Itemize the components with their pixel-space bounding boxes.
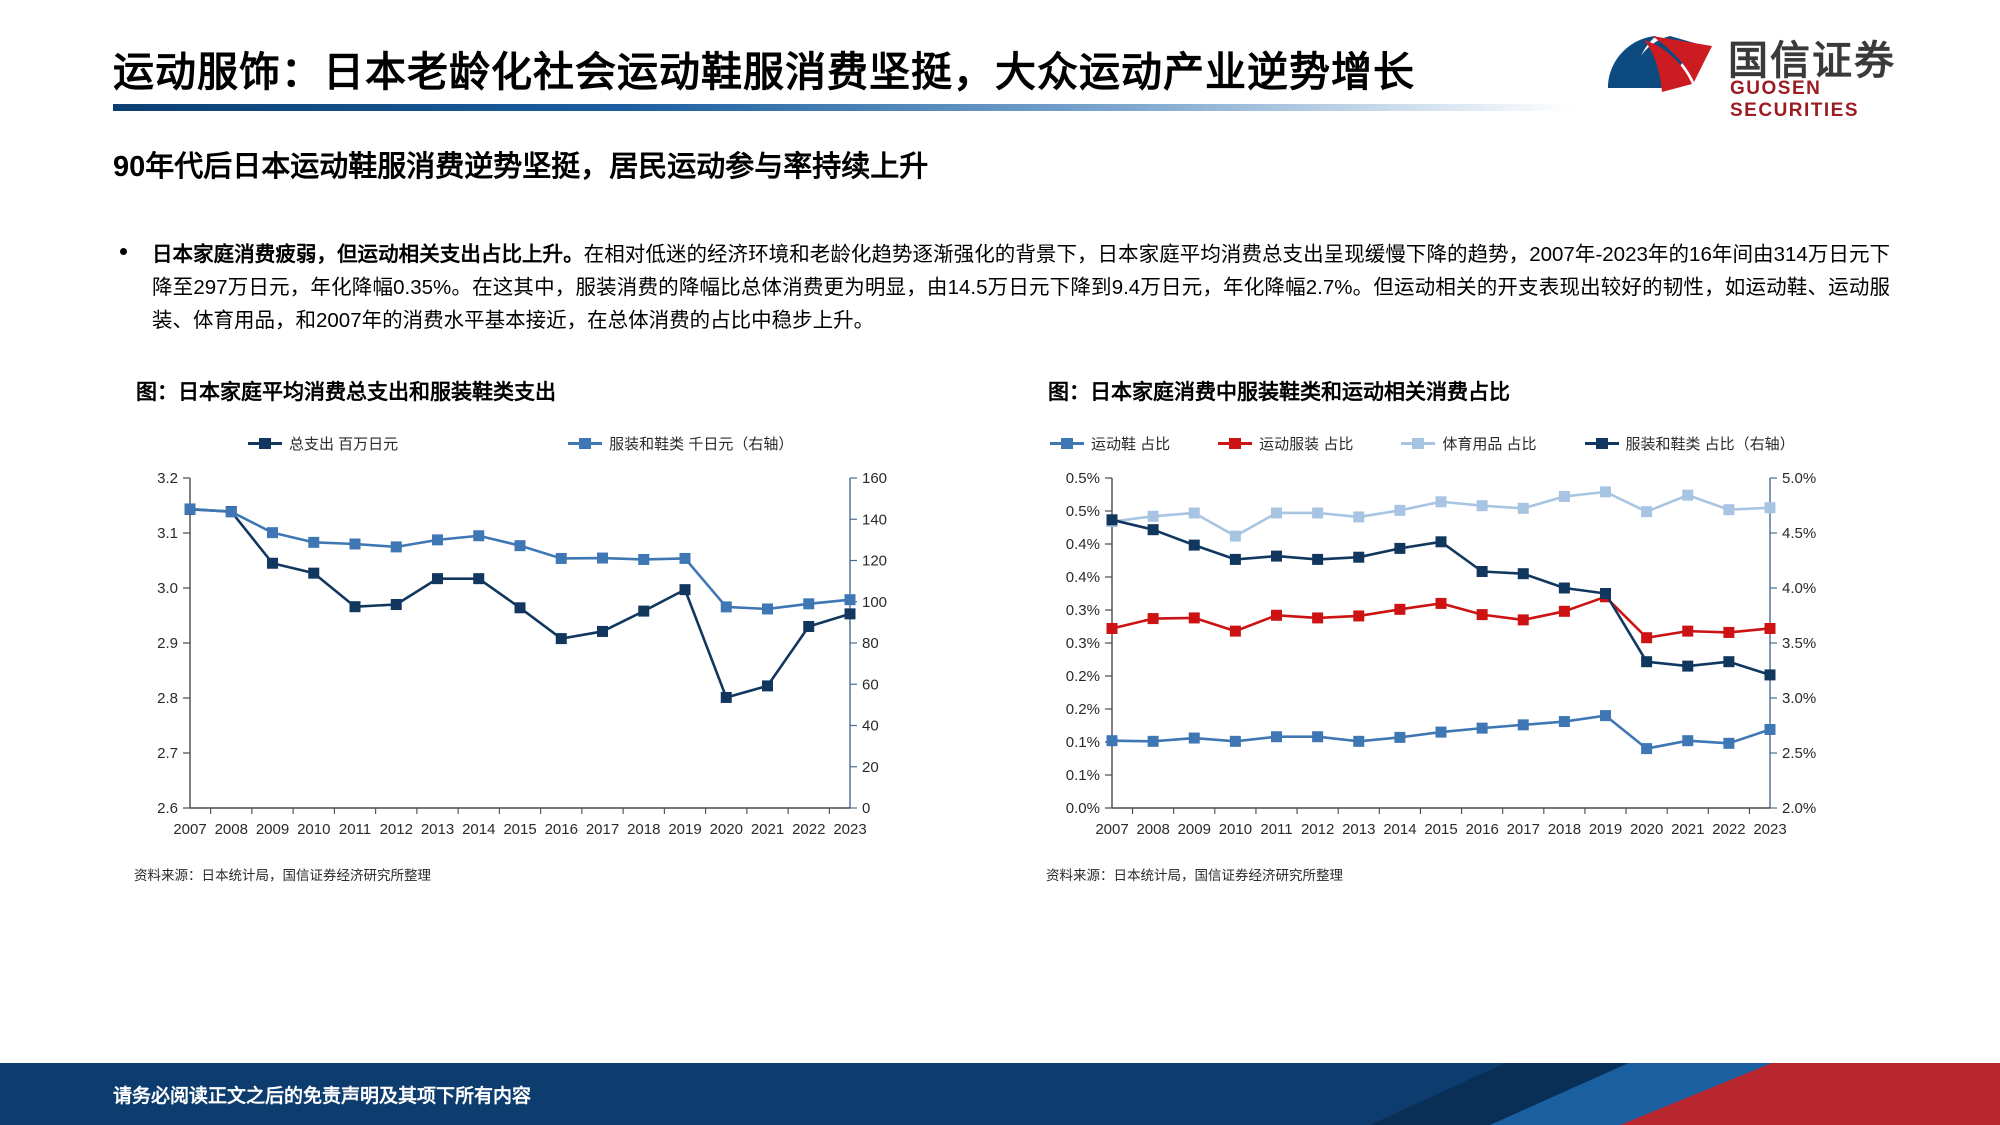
legend-swatch-icon bbox=[248, 438, 282, 448]
axis-tick-label: 0.0% bbox=[1066, 800, 1100, 817]
chart-left-source: 资料来源：日本统计局，国信证券经济研究所整理 bbox=[134, 864, 958, 884]
series-marker bbox=[1600, 588, 1611, 599]
axis-tick-label: 2016 bbox=[545, 821, 578, 838]
axis-tick-label: 2017 bbox=[1507, 821, 1540, 838]
series-marker bbox=[803, 621, 814, 632]
series-marker bbox=[1312, 731, 1323, 742]
axis-tick-label: 0.2% bbox=[1066, 668, 1100, 685]
series-marker bbox=[350, 601, 361, 612]
series-marker bbox=[680, 584, 691, 595]
axis-tick-label: 4.5% bbox=[1782, 525, 1816, 542]
series-marker bbox=[1148, 613, 1159, 624]
legend-swatch-icon bbox=[1050, 438, 1084, 448]
series-marker bbox=[1107, 514, 1118, 525]
series-marker bbox=[267, 558, 278, 569]
axis-tick-label: 20 bbox=[862, 759, 879, 776]
axis-tick-label: 2014 bbox=[1383, 821, 1416, 838]
axis-tick-label: 0.4% bbox=[1066, 569, 1100, 586]
series-marker bbox=[391, 541, 402, 552]
series-marker bbox=[1723, 504, 1734, 515]
series-marker bbox=[803, 598, 814, 609]
legend-label: 服装和鞋类 占比（右轴） bbox=[1626, 433, 1795, 454]
series-marker bbox=[226, 506, 237, 517]
series-marker bbox=[1107, 735, 1118, 746]
series-marker bbox=[1641, 743, 1652, 754]
series-marker bbox=[638, 554, 649, 565]
series-marker bbox=[845, 594, 856, 605]
series-marker bbox=[1723, 738, 1734, 749]
series-marker bbox=[1394, 505, 1405, 516]
bullet-dot-icon bbox=[120, 248, 127, 255]
series-marker bbox=[1765, 669, 1776, 680]
bullet-lead: 日本家庭消费疲弱，但运动相关支出占比上升。 bbox=[152, 243, 584, 266]
series-marker bbox=[1477, 500, 1488, 511]
axis-tick-label: 40 bbox=[862, 718, 879, 735]
series-marker bbox=[556, 553, 567, 564]
series-marker bbox=[432, 534, 443, 545]
series-marker bbox=[1312, 612, 1323, 623]
chart-right-plot: 0.5%0.5%0.4%0.4%0.3%0.3%0.2%0.2%0.1%0.1%… bbox=[1040, 464, 1870, 854]
logo-mark-icon bbox=[1600, 30, 1718, 98]
axis-tick-label: 3.0% bbox=[1782, 690, 1816, 707]
series-marker bbox=[1230, 531, 1241, 542]
series-marker bbox=[1765, 724, 1776, 735]
series-marker bbox=[1765, 502, 1776, 513]
series-marker bbox=[1559, 716, 1570, 727]
axis-tick-label: 0.2% bbox=[1066, 701, 1100, 718]
chart-right: 图：日本家庭消费中服装鞋类和运动相关消费占比 运动鞋 占比运动服装 占比体育用品… bbox=[1040, 376, 1870, 884]
series-marker bbox=[845, 608, 856, 619]
axis-tick-label: 2011 bbox=[1260, 821, 1292, 838]
series-marker bbox=[721, 601, 732, 612]
legend-label: 运动服装 占比 bbox=[1259, 433, 1353, 454]
legend-item-2[interactable]: 体育用品 占比 bbox=[1401, 433, 1536, 454]
series-marker bbox=[1436, 496, 1447, 507]
axis-tick-label: 0.5% bbox=[1066, 503, 1100, 520]
axis-tick-label: 0.4% bbox=[1066, 536, 1100, 553]
axis-tick-label: 2016 bbox=[1465, 821, 1498, 838]
axis-tick-label: 2021 bbox=[1671, 821, 1704, 838]
axis-tick-label: 2020 bbox=[1630, 821, 1663, 838]
legend-label: 总支出 百万日元 bbox=[289, 433, 398, 454]
legend-item-1[interactable]: 运动服装 占比 bbox=[1218, 433, 1353, 454]
axis-tick-label: 2.6 bbox=[157, 800, 178, 817]
series-marker bbox=[597, 553, 608, 564]
series-marker bbox=[308, 568, 319, 579]
axis-tick-label: 2019 bbox=[668, 821, 701, 838]
axis-tick-label: 2019 bbox=[1589, 821, 1622, 838]
axis-tick-label: 5.0% bbox=[1782, 470, 1816, 487]
chart-right-source: 资料来源：日本统计局，国信证券经济研究所整理 bbox=[1046, 864, 1870, 884]
series-marker bbox=[1765, 623, 1776, 634]
legend-swatch-icon bbox=[1585, 438, 1619, 448]
series-marker bbox=[1353, 552, 1364, 563]
chart-right-legend: 运动鞋 占比运动服装 占比体育用品 占比服装和鞋类 占比（右轴） bbox=[1040, 430, 1870, 456]
axis-tick-label: 2.5% bbox=[1782, 745, 1816, 762]
axis-tick-label: 3.1 bbox=[157, 525, 178, 542]
axis-tick-label: 2007 bbox=[1095, 821, 1128, 838]
axis-tick-label: 2.8 bbox=[157, 690, 178, 707]
series-marker bbox=[1189, 507, 1200, 518]
legend-swatch-icon bbox=[1218, 438, 1252, 448]
axis-tick-label: 2011 bbox=[339, 821, 371, 838]
series-marker bbox=[350, 539, 361, 550]
axis-tick-label: 2008 bbox=[1136, 821, 1169, 838]
axis-tick-label: 2015 bbox=[503, 821, 536, 838]
series-marker bbox=[1477, 566, 1488, 577]
axis-tick-label: 2018 bbox=[1548, 821, 1581, 838]
axis-tick-label: 4.0% bbox=[1782, 580, 1816, 597]
series-marker bbox=[473, 530, 484, 541]
bullet-text: 日本家庭消费疲弱，但运动相关支出占比上升。在相对低迷的经济环境和老龄化趋势逐渐强… bbox=[152, 238, 1890, 337]
series-marker bbox=[1641, 656, 1652, 667]
chart-left: 图：日本家庭平均消费总支出和服装鞋类支出 总支出 百万日元服装和鞋类 千日元（右… bbox=[128, 376, 958, 884]
series-marker bbox=[1271, 610, 1282, 621]
chart-right-title: 图：日本家庭消费中服装鞋类和运动相关消费占比 bbox=[1048, 376, 1870, 406]
series-marker bbox=[762, 680, 773, 691]
series-marker bbox=[1723, 627, 1734, 638]
company-logo: 国信证券 GUOSEN SECURITIES bbox=[1600, 28, 1940, 106]
series-marker bbox=[1312, 554, 1323, 565]
series-marker bbox=[1682, 626, 1693, 637]
axis-tick-label: 2013 bbox=[1342, 821, 1375, 838]
series-marker bbox=[1600, 710, 1611, 721]
series-marker bbox=[638, 606, 649, 617]
series-marker bbox=[1148, 736, 1159, 747]
axis-tick-label: 2017 bbox=[586, 821, 619, 838]
series-marker bbox=[1518, 568, 1529, 579]
series-marker bbox=[308, 537, 319, 548]
axis-tick-label: 0.1% bbox=[1066, 734, 1100, 751]
series-marker bbox=[1271, 551, 1282, 562]
series-marker bbox=[432, 573, 443, 584]
series-marker bbox=[1682, 661, 1693, 672]
axis-tick-label: 2010 bbox=[1219, 821, 1252, 838]
axis-tick-label: 3.0 bbox=[157, 580, 178, 597]
axis-tick-label: 2021 bbox=[751, 821, 784, 838]
series-marker bbox=[1394, 604, 1405, 615]
axis-tick-label: 2023 bbox=[833, 821, 866, 838]
series-marker bbox=[267, 527, 278, 538]
axis-tick-label: 2007 bbox=[173, 821, 206, 838]
series-marker bbox=[762, 603, 773, 614]
series-marker bbox=[1723, 656, 1734, 667]
axis-tick-label: 100 bbox=[862, 594, 887, 611]
series-marker bbox=[1641, 632, 1652, 643]
series-marker bbox=[1518, 503, 1529, 514]
axis-tick-label: 2.9 bbox=[157, 635, 178, 652]
axis-tick-label: 80 bbox=[862, 635, 879, 652]
axis-tick-label: 3.2 bbox=[157, 470, 178, 487]
legend-label: 服装和鞋类 千日元（右轴） bbox=[609, 433, 793, 454]
series-marker bbox=[1271, 507, 1282, 518]
legend-item-0[interactable]: 总支出 百万日元 bbox=[248, 433, 398, 454]
series-marker bbox=[1600, 486, 1611, 497]
series-marker bbox=[1641, 506, 1652, 517]
legend-item-1[interactable]: 服装和鞋类 千日元（右轴） bbox=[568, 433, 793, 454]
bullet-paragraph: 日本家庭消费疲弱，但运动相关支出占比上升。在相对低迷的经济环境和老龄化趋势逐渐强… bbox=[120, 238, 1890, 337]
chart-left-plot: 3.23.13.02.92.82.72.61601401201008060402… bbox=[128, 464, 958, 854]
axis-tick-label: 2013 bbox=[421, 821, 454, 838]
series-marker bbox=[473, 573, 484, 584]
axis-tick-label: 2015 bbox=[1424, 821, 1457, 838]
chart-left-legend: 总支出 百万日元服装和鞋类 千日元（右轴） bbox=[128, 430, 958, 456]
series-marker bbox=[1230, 554, 1241, 565]
axis-tick-label: 2022 bbox=[792, 821, 825, 838]
legend-label: 体育用品 占比 bbox=[1442, 433, 1536, 454]
series-marker bbox=[1189, 540, 1200, 551]
series-marker bbox=[1518, 719, 1529, 730]
series-line-1 bbox=[190, 509, 850, 609]
series-marker bbox=[1436, 727, 1447, 738]
series-marker bbox=[1230, 736, 1241, 747]
series-marker bbox=[1353, 511, 1364, 522]
series-marker bbox=[1436, 598, 1447, 609]
series-marker bbox=[1394, 732, 1405, 743]
series-marker bbox=[1394, 543, 1405, 554]
series-marker bbox=[1148, 511, 1159, 522]
series-marker bbox=[185, 503, 196, 514]
footer-disclaimer: 请务必阅读正文之后的免责声明及其项下所有内容 bbox=[113, 1081, 531, 1108]
series-marker bbox=[1682, 490, 1693, 501]
series-marker bbox=[1436, 536, 1447, 547]
axis-tick-label: 2020 bbox=[710, 821, 743, 838]
page-header: 运动服饰：日本老龄化社会运动鞋服消费坚挺，大众运动产业逆势增长 国信证券 GUO… bbox=[0, 0, 2000, 130]
axis-tick-label: 2.7 bbox=[157, 745, 178, 762]
series-marker bbox=[391, 599, 402, 610]
series-marker bbox=[1477, 609, 1488, 620]
series-marker bbox=[1230, 626, 1241, 637]
axis-tick-label: 2012 bbox=[1301, 821, 1334, 838]
axis-tick-label: 160 bbox=[862, 470, 887, 487]
logo-text-en: GUOSEN SECURITIES bbox=[1730, 78, 1940, 122]
series-marker bbox=[1518, 614, 1529, 625]
axis-tick-label: 0.3% bbox=[1066, 635, 1100, 652]
axis-tick-label: 2023 bbox=[1753, 821, 1786, 838]
axis-tick-label: 2.0% bbox=[1782, 800, 1816, 817]
series-marker bbox=[1148, 524, 1159, 535]
axis-tick-label: 2022 bbox=[1712, 821, 1745, 838]
series-marker bbox=[1682, 735, 1693, 746]
header-divider bbox=[113, 104, 1573, 111]
legend-swatch-icon bbox=[1401, 438, 1435, 448]
axis-tick-label: 2018 bbox=[627, 821, 660, 838]
axis-tick-label: 60 bbox=[862, 676, 879, 693]
legend-label: 运动鞋 占比 bbox=[1091, 433, 1170, 454]
series-marker bbox=[515, 540, 526, 551]
series-marker bbox=[1559, 583, 1570, 594]
series-marker bbox=[1312, 507, 1323, 518]
series-marker bbox=[721, 692, 732, 703]
series-marker bbox=[515, 602, 526, 613]
axis-tick-label: 0.3% bbox=[1066, 602, 1100, 619]
series-marker bbox=[1189, 733, 1200, 744]
series-marker bbox=[1353, 610, 1364, 621]
axis-tick-label: 120 bbox=[862, 553, 887, 570]
series-marker bbox=[1353, 736, 1364, 747]
section-subtitle: 90年代后日本运动鞋服消费逆势坚挺，居民运动参与率持续上升 bbox=[113, 143, 928, 185]
axis-tick-label: 2010 bbox=[297, 821, 330, 838]
axis-tick-label: 140 bbox=[862, 511, 887, 528]
page-footer: 请务必阅读正文之后的免责声明及其项下所有内容 bbox=[0, 1063, 2000, 1125]
axis-tick-label: 2009 bbox=[256, 821, 289, 838]
series-marker bbox=[556, 633, 567, 644]
axis-tick-label: 0.5% bbox=[1066, 470, 1100, 487]
legend-item-0[interactable]: 运动鞋 占比 bbox=[1050, 433, 1170, 454]
series-marker bbox=[1559, 606, 1570, 617]
legend-swatch-icon bbox=[568, 438, 602, 448]
axis-tick-label: 2014 bbox=[462, 821, 495, 838]
axis-tick-label: 3.5% bbox=[1782, 635, 1816, 652]
axis-tick-label: 2009 bbox=[1178, 821, 1211, 838]
series-marker bbox=[1189, 612, 1200, 623]
axis-tick-label: 2008 bbox=[215, 821, 248, 838]
page-title: 运动服饰：日本老龄化社会运动鞋服消费坚挺，大众运动产业逆势增长 bbox=[113, 38, 1415, 98]
legend-item-3[interactable]: 服装和鞋类 占比（右轴） bbox=[1585, 433, 1795, 454]
axis-tick-label: 2012 bbox=[380, 821, 413, 838]
series-marker bbox=[1271, 731, 1282, 742]
series-marker bbox=[1559, 491, 1570, 502]
series-marker bbox=[1107, 623, 1118, 634]
axis-tick-label: 0.1% bbox=[1066, 767, 1100, 784]
series-marker bbox=[680, 553, 691, 564]
axis-tick-label: 0 bbox=[862, 800, 870, 817]
series-marker bbox=[1477, 723, 1488, 734]
chart-left-title: 图：日本家庭平均消费总支出和服装鞋类支出 bbox=[136, 376, 958, 406]
series-marker bbox=[597, 626, 608, 637]
